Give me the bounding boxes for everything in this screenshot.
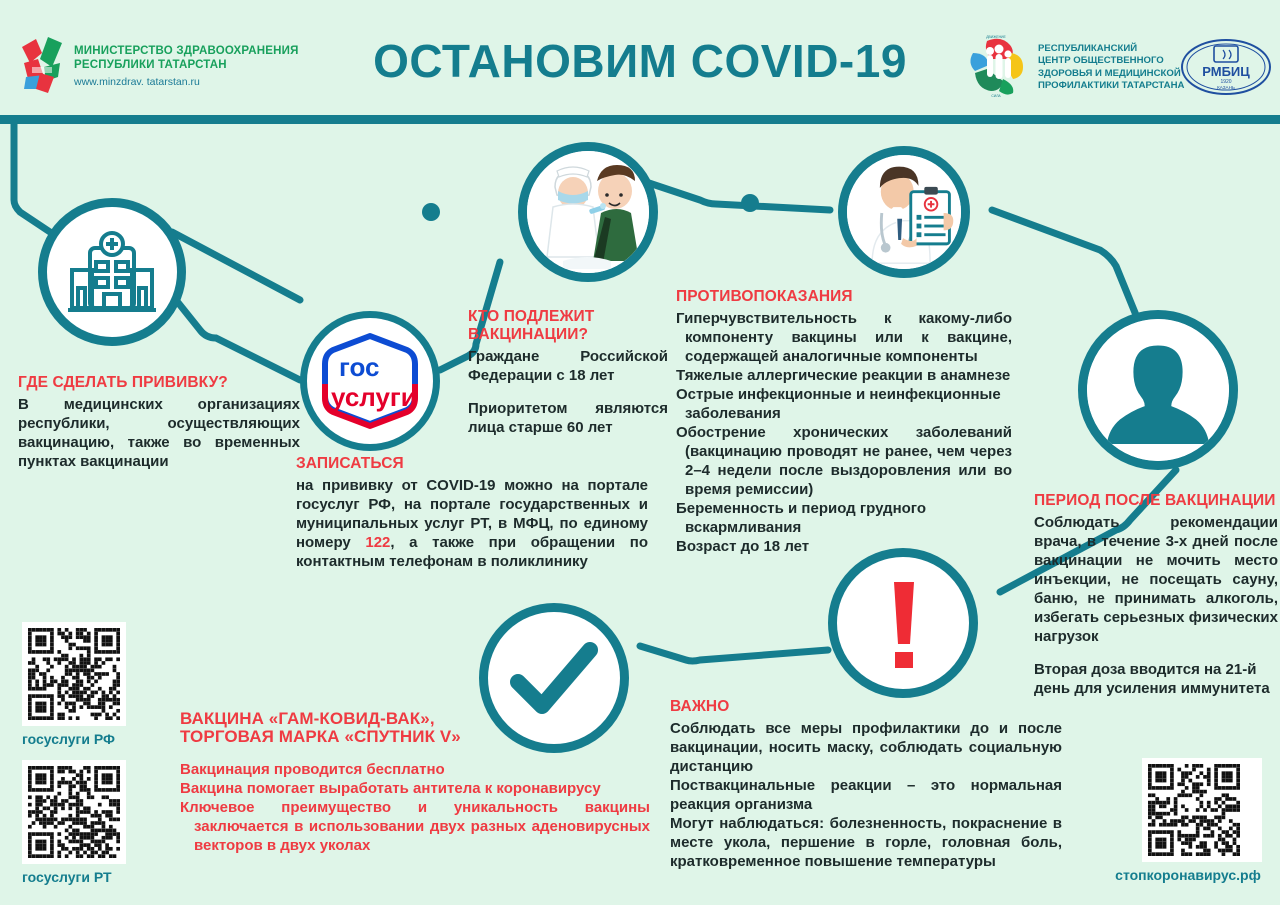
vaccine-item: Вакцина помогает выработать антитела к к… xyxy=(180,779,650,798)
person-node xyxy=(1078,310,1238,470)
gosuslugi-logo-node: гос услуги xyxy=(300,311,440,451)
qr-label: стопкоронавирус.рф xyxy=(1114,867,1262,883)
who-title-line-2: ВАКЦИНАЦИИ? xyxy=(468,326,668,344)
where-body: В медицинских организациях республики, о… xyxy=(18,395,300,471)
vaccine-title-line-2: ТОРГОВАЯ МАРКА «СПУТНИК V» xyxy=(180,728,650,746)
after-body-2: Вторая доза вводится на 21-й день для ус… xyxy=(1034,660,1278,698)
connector-dot xyxy=(422,203,440,221)
gosuslugi-logo-icon: гос услуги xyxy=(307,318,433,444)
vaccine-item: Вакцинация проводится бесплатно xyxy=(180,760,650,779)
vaccine-title-line-1: ВАКЦИНА «ГАМ-КОВИД-ВАК», xyxy=(180,710,650,728)
contraindication-item: Тяжелые аллергические реакции в анамнезе xyxy=(676,366,1012,385)
doctor-node xyxy=(838,146,970,278)
vaccine-item: Ключевое преимущество и уникальность вак… xyxy=(180,798,650,855)
hospital-node xyxy=(38,198,186,346)
contraindication-item: Беременность и период грудного вскармлив… xyxy=(676,499,1012,537)
contraindications-title: ПРОТИВОПОКАЗАНИЯ xyxy=(676,288,1012,306)
person-silhouette-icon xyxy=(1087,315,1229,465)
qr-gosuslugi-rt[interactable]: госуслуги РТ xyxy=(22,760,126,885)
important-body-3: Могут наблюдаться: болезненность, покрас… xyxy=(670,814,1062,871)
important-body-1: Соблюдать все меры профилактики до и пос… xyxy=(670,719,1062,776)
contraindications-block: ПРОТИВОПОКАЗАНИЯ Гиперчувствительность к… xyxy=(676,288,1012,556)
doctor-with-clipboard-icon xyxy=(847,153,961,271)
contraindication-item: Острые инфекционные и неинфекционные заб… xyxy=(676,385,1012,423)
infographic-poster: МИНИСТЕРСТВО ЗДРАВООХРАНЕНИЯ РЕСПУБЛИКИ … xyxy=(0,0,1280,905)
qr-code-image xyxy=(22,622,126,726)
signup-block: ЗАПИСАТЬСЯ на прививку от COVID-19 можно… xyxy=(296,455,648,571)
qr-label: госуслуги РТ xyxy=(22,869,126,885)
qr-label: госуслуги РФ xyxy=(22,731,126,747)
important-body-2: Поствакцинальные реакции – это нормальна… xyxy=(670,776,1062,814)
qr-code-image xyxy=(1142,758,1262,862)
after-vaccination-block: ПЕРИОД ПОСЛЕ ВАКЦИНАЦИИ Соблюдать рекоме… xyxy=(1034,492,1278,698)
who-spacer xyxy=(468,385,668,399)
where-title: ГДЕ СДЕЛАТЬ ПРИВИВКУ? xyxy=(18,374,300,392)
gosuslugi-line-1: гос xyxy=(339,352,380,382)
hospital-icon xyxy=(60,220,164,324)
contraindication-item: Обострение хронических заболеваний (вакц… xyxy=(676,423,1012,499)
qr-gosuslugi-rf[interactable]: госуслуги РФ xyxy=(22,622,126,747)
after-spacer xyxy=(1034,646,1278,660)
who-body-2: Приоритетом являются лица старше 60 лет xyxy=(468,399,668,437)
who-block: КТО ПОДЛЕЖИТ ВАКЦИНАЦИИ? Граждане Россий… xyxy=(468,308,668,437)
nurse-vaccinating-patient-icon xyxy=(527,151,649,273)
after-body-1: Соблюдать рекомендации врача, в течение … xyxy=(1034,513,1278,646)
contraindication-item: Возраст до 18 лет xyxy=(676,537,1012,556)
qr-stopkoronavirus[interactable]: стопкоронавирус.рф xyxy=(1142,758,1262,883)
after-title: ПЕРИОД ПОСЛЕ ВАКЦИНАЦИИ xyxy=(1034,492,1278,510)
signup-phone: 122 xyxy=(365,534,390,551)
contraindication-item: Гиперчувствительность к какому-либо комп… xyxy=(676,309,1012,366)
where-block: ГДЕ СДЕЛАТЬ ПРИВИВКУ? В медицинских орга… xyxy=(18,374,300,471)
exclamation-node xyxy=(828,548,978,698)
who-body-1: Граждане Российской Федерации с 18 лет xyxy=(468,347,668,385)
important-block: ВАЖНО Соблюдать все меры профилактики до… xyxy=(670,698,1062,871)
signup-title: ЗАПИСАТЬСЯ xyxy=(296,455,648,473)
who-title-line-1: КТО ПОДЛЕЖИТ xyxy=(468,308,668,326)
vaccine-block: ВАКЦИНА «ГАМ-КОВИД-ВАК», ТОРГОВАЯ МАРКА … xyxy=(180,710,650,855)
connector-dot xyxy=(741,194,759,212)
gosuslugi-line-2: услуги xyxy=(331,382,417,412)
qr-code-image xyxy=(22,760,126,864)
exclamation-mark-icon xyxy=(868,568,938,678)
important-title: ВАЖНО xyxy=(670,698,1062,716)
signup-body: на прививку от COVID-19 можно на портале… xyxy=(296,476,648,571)
vaccination-node xyxy=(518,142,658,282)
